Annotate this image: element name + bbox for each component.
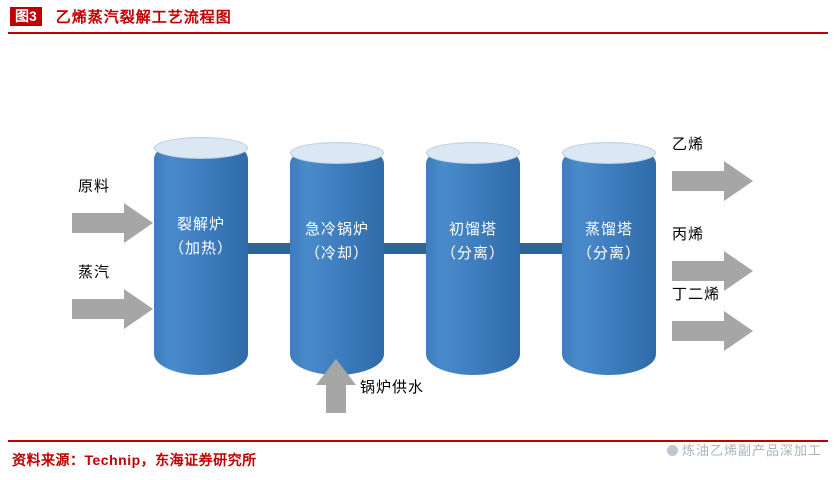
vessel-label-line2: （加热） bbox=[154, 238, 248, 260]
vessel-label-line1: 裂解炉 bbox=[154, 214, 248, 236]
figure-title: 乙烯蒸汽裂解工艺流程图 bbox=[56, 6, 232, 27]
input-arrow-boiler-feed-water bbox=[316, 359, 356, 414]
vessel-distillation-column: 蒸馏塔 （分离） bbox=[562, 143, 656, 375]
output-arrow-butadiene bbox=[672, 311, 754, 351]
vessel-label-line2: （分离） bbox=[562, 243, 656, 265]
input-label-boiler-feed-water: 锅炉供水 bbox=[360, 376, 424, 397]
figure-header: 图3 乙烯蒸汽裂解工艺流程图 bbox=[0, 0, 836, 33]
vessel-cap bbox=[290, 142, 384, 164]
vessel-label-line1: 急冷锅炉 bbox=[290, 219, 384, 241]
vessel-cap bbox=[426, 142, 520, 164]
vessel-cracking-furnace: 裂解炉 （加热） bbox=[154, 138, 248, 375]
vessel-label-line1: 蒸馏塔 bbox=[562, 219, 656, 241]
vessel-label-line2: （分离） bbox=[426, 243, 520, 265]
output-label-butadiene: 丁二烯 bbox=[672, 283, 720, 304]
input-arrow-raw-material bbox=[72, 203, 154, 243]
output-label-ethylene: 乙烯 bbox=[672, 133, 704, 154]
watermark-logo-icon bbox=[667, 445, 678, 456]
source-note: 资料来源：Technip，东海证券研究所 bbox=[12, 450, 257, 470]
process-flow-diagram: 原料 蒸汽 裂解炉 （加热） 急冷锅炉 （冷却） bbox=[0, 33, 836, 438]
watermark: 炼油乙烯副产品深加工 bbox=[667, 440, 822, 459]
watermark-text: 炼油乙烯副产品深加工 bbox=[682, 443, 822, 458]
figure-page: 图3 乙烯蒸汽裂解工艺流程图 原料 蒸汽 裂解炉 （加热） bbox=[0, 0, 836, 480]
vessel-label-line2: （冷却） bbox=[290, 243, 384, 265]
vessel-quench-boiler: 急冷锅炉 （冷却） bbox=[290, 143, 384, 375]
vessel-primary-fractionator: 初馏塔 （分离） bbox=[426, 143, 520, 375]
output-arrow-ethylene bbox=[672, 161, 754, 201]
input-label-raw-material: 原料 bbox=[78, 175, 110, 196]
input-label-steam: 蒸汽 bbox=[78, 261, 110, 282]
input-arrow-steam bbox=[72, 289, 154, 329]
vessel-cap bbox=[154, 137, 248, 159]
vessel-label-line1: 初馏塔 bbox=[426, 219, 520, 241]
vessel-cap bbox=[562, 142, 656, 164]
figure-number-badge: 图3 bbox=[10, 7, 42, 26]
output-label-propylene: 丙烯 bbox=[672, 223, 704, 244]
